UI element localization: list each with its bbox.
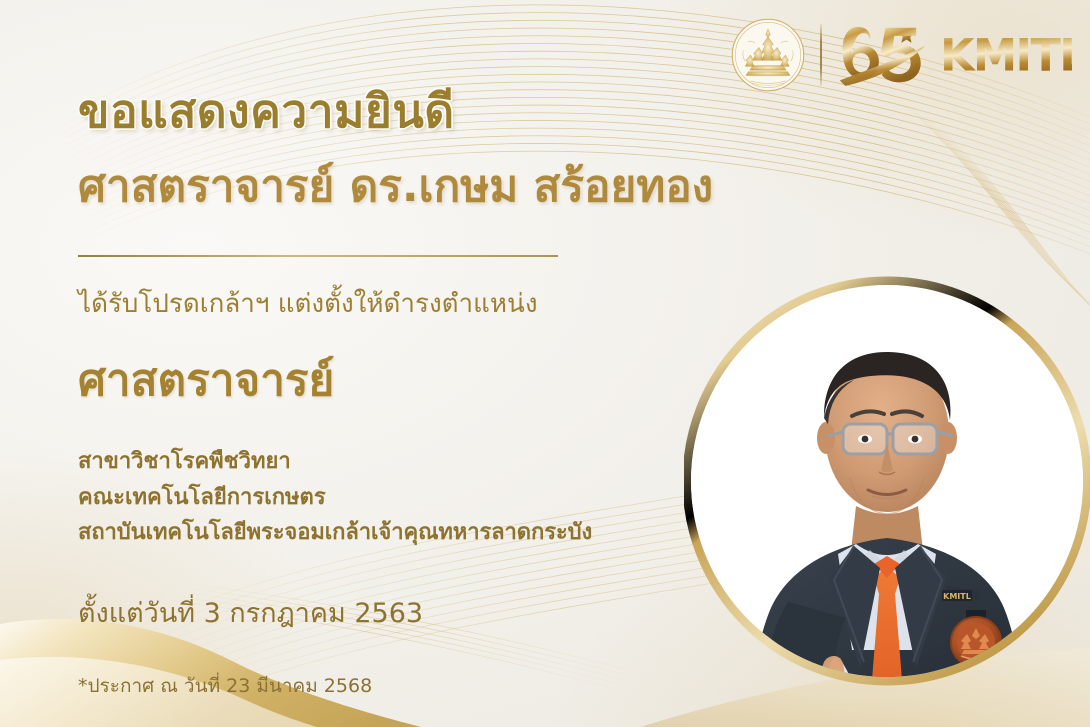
affiliation-block: สาขาวิชาโรคพืชวิทยา คณะเทคโนโลยีการเกษตร… [78,444,592,551]
honoree-name: ศาสตราจารย์ ดร.เกษม สร้อยทอง [78,162,713,213]
effective-date: ตั้งแต่วันที่ 3 กรกฎาคม 2563 [78,591,423,634]
announced-note: *ประกาศ ณ วันที่ 23 มีนาคม 2568 [78,671,372,701]
kmitl-logo-lockup: KMITL [730,16,1072,94]
announcement-text-block: ขอแสดงความยินดี ศาสตราจารย์ ดร.เกษม สร้อ… [78,0,698,727]
kmitl-royal-crest-icon [730,17,806,93]
svg-text:KMITL: KMITL [943,592,971,601]
affiliation-department: สาขาวิชาโรคพืชวิทยา [78,444,592,480]
honoree-portrait: KMITL [684,238,1090,727]
kmitl-wordmark: KMITL [940,27,1072,83]
congratulation-card: KMITL [0,0,1090,727]
anniversary-65-icon [838,22,938,88]
page-title: ขอแสดงความยินดี [78,86,455,137]
portrait-block: KMITL [684,238,1090,727]
position-title: ศาสตราจารย์ [78,345,334,415]
affiliation-institute: สถาบันเทคโนโลยีพระจอมเกล้าเจ้าคุณทหารลาด… [78,515,592,551]
gold-divider [78,255,558,257]
affiliation-faculty: คณะเทคโนโลยีการเกษตร [78,480,592,516]
appointment-intro: ได้รับโปรดเกล้าฯ แต่งตั้งให้ดำรงตำแหน่ง [78,283,538,324]
logo-divider [820,24,822,86]
svg-text:KMITL: KMITL [940,30,1072,82]
